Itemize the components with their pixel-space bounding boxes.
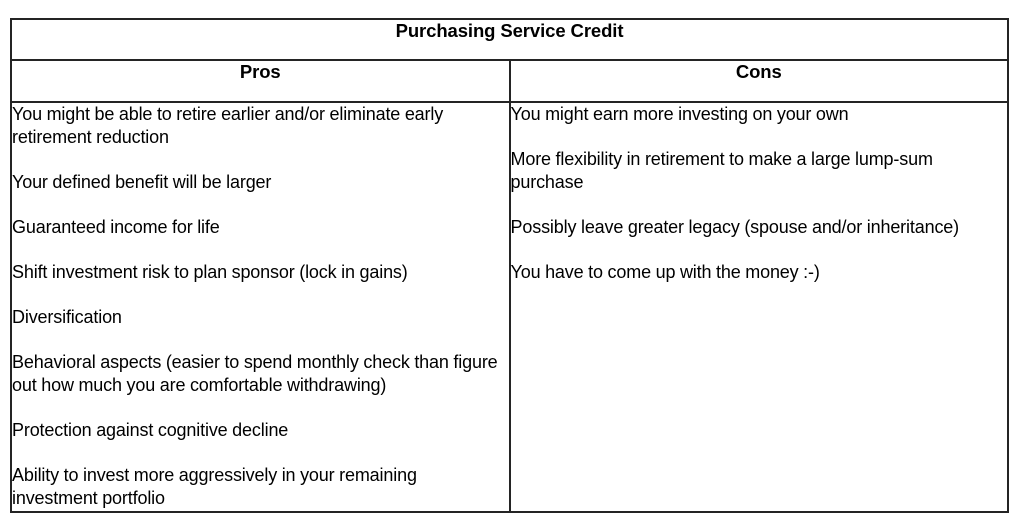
table-body: Purchasing Service Credit Pros Cons You … (11, 19, 1008, 512)
document-page: Purchasing Service Credit Pros Cons You … (0, 0, 1024, 529)
table-header-row: Pros Cons (11, 60, 1008, 102)
list-item: Guaranteed income for life (12, 216, 509, 239)
column-header-pros: Pros (11, 60, 510, 102)
list-item: More flexibility in retirement to make a… (511, 148, 1008, 194)
table-title: Purchasing Service Credit (11, 19, 1008, 60)
pros-list: You might be able to retire earlier and/… (12, 103, 509, 510)
list-item: Shift investment risk to plan sponsor (l… (12, 261, 509, 284)
list-item: Possibly leave greater legacy (spouse an… (511, 216, 1008, 239)
list-item: Diversification (12, 306, 509, 329)
list-item: Your defined benefit will be larger (12, 171, 509, 194)
list-item: You might earn more investing on your ow… (511, 103, 1008, 126)
pros-cons-table: Purchasing Service Credit Pros Cons You … (10, 18, 1009, 513)
pros-cell: You might be able to retire earlier and/… (11, 102, 510, 512)
list-item: Protection against cognitive decline (12, 419, 509, 442)
list-item: You might be able to retire earlier and/… (12, 103, 509, 149)
cons-list: You might earn more investing on your ow… (511, 103, 1008, 284)
list-item: Ability to invest more aggressively in y… (12, 464, 509, 510)
list-item: You have to come up with the money :-) (511, 261, 1008, 284)
column-header-cons: Cons (510, 60, 1009, 102)
table-title-row: Purchasing Service Credit (11, 19, 1008, 60)
list-item: Behavioral aspects (easier to spend mont… (12, 351, 509, 397)
table-body-row: You might be able to retire earlier and/… (11, 102, 1008, 512)
cons-cell: You might earn more investing on your ow… (510, 102, 1009, 512)
